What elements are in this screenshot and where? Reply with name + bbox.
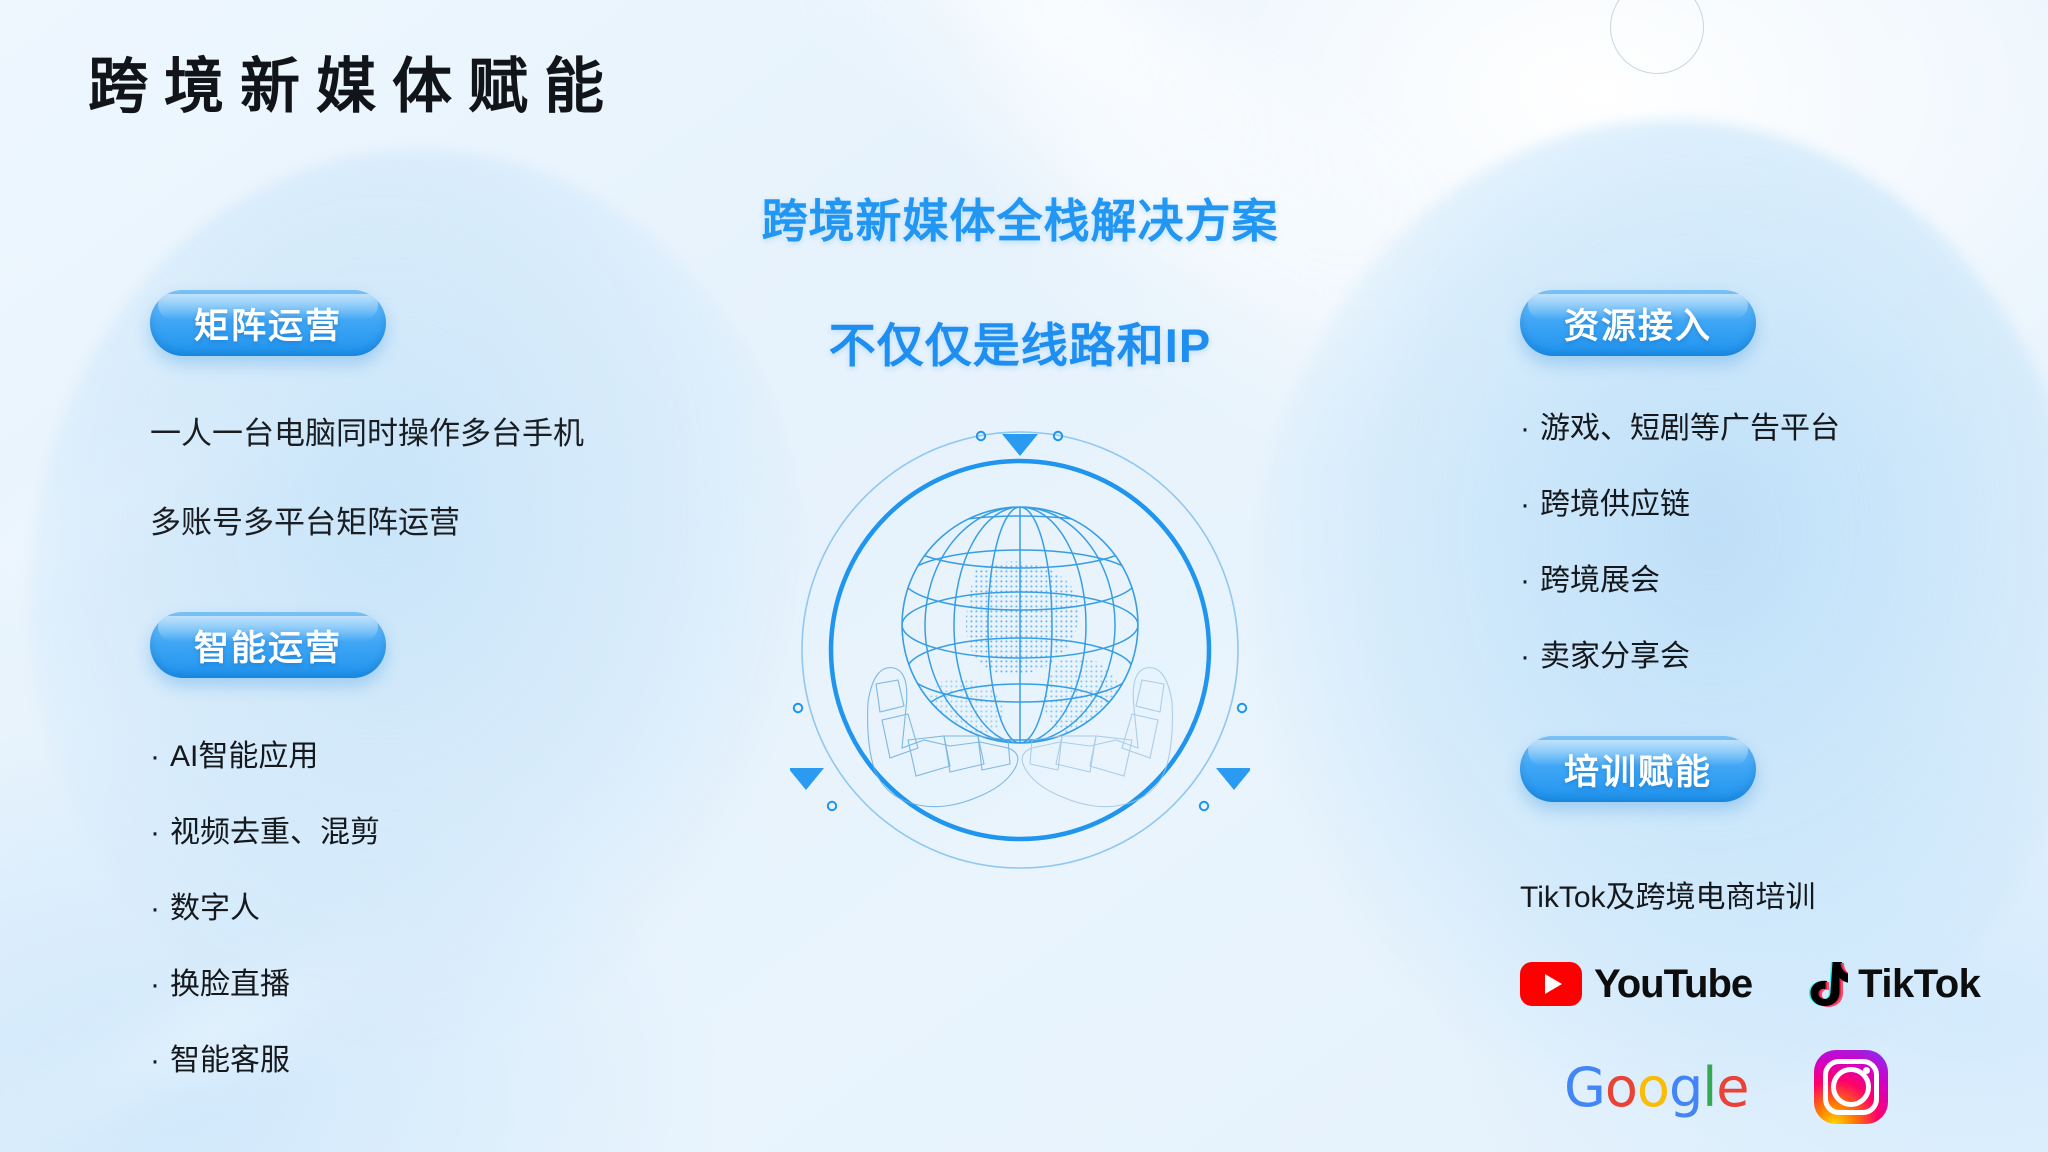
center-headline-block: 跨境新媒体全栈解决方案 不仅仅是线路和IP <box>640 185 1400 376</box>
bullet-dot: · <box>150 818 170 848</box>
page-title: 跨境新媒体赋能 <box>88 38 620 125</box>
list-item-label: 数字人 <box>170 892 260 925</box>
bullet-dot: · <box>1520 414 1540 444</box>
list-item-label: 智能客服 <box>170 1044 290 1077</box>
left-section2-list: ·AI智能应用 ·视频去重、混剪 ·数字人 ·换脸直播 ·智能客服 <box>150 742 710 1076</box>
tiktok-note-icon <box>1804 960 1848 1008</box>
list-item: ·跨境供应链 <box>1520 490 2040 520</box>
list-item-label: 跨境供应链 <box>1540 488 1690 521</box>
bullet-dot: · <box>150 894 170 924</box>
pill-resource-access[interactable]: 资源接入 <box>1520 290 1756 356</box>
pill-label: 培训赋能 <box>1564 744 1712 795</box>
pill-label: 资源接入 <box>1564 298 1712 349</box>
bullet-dot: · <box>1520 566 1540 596</box>
list-item-label: AI智能应用 <box>170 740 318 773</box>
list-item: ·换脸直播 <box>150 970 710 1000</box>
bullet-dot: · <box>150 1046 170 1076</box>
pill-matrix-operations[interactable]: 矩阵运营 <box>150 290 386 356</box>
list-item-label: 跨境展会 <box>1540 564 1660 597</box>
tiktok-logo[interactable]: TikTok <box>1804 960 1980 1008</box>
list-item: ·AI智能应用 <box>150 742 710 772</box>
headline-primary: 跨境新媒体全栈解决方案 <box>640 185 1400 251</box>
list-item: ·数字人 <box>150 894 710 924</box>
left-section1-line-1: 多账号多平台矩阵运营 <box>150 507 710 538</box>
list-item-label: 换脸直播 <box>170 968 290 1001</box>
list-item: ·跨境展会 <box>1520 566 2040 596</box>
logo-row-top: YouTube TikTok <box>1520 960 2040 1008</box>
left-section1-line-0: 一人一台电脑同时操作多台手机 <box>150 418 710 449</box>
list-item: ·卖家分享会 <box>1520 642 2040 672</box>
instagram-logo[interactable] <box>1814 1050 1888 1124</box>
globe-graphic <box>790 420 1250 880</box>
slide-canvas: 跨境新媒体赋能 跨境新媒体全栈解决方案 不仅仅是线路和IP <box>0 0 2048 1152</box>
pill-label: 智能运营 <box>194 620 342 671</box>
pill-label: 矩阵运营 <box>194 298 342 349</box>
right-column: 资源接入 ·游戏、短剧等广告平台 ·跨境供应链 ·跨境展会 ·卖家分享会 培训赋… <box>1520 290 2040 1124</box>
globe-illustration-svg <box>790 420 1250 880</box>
left-column: 矩阵运营 一人一台电脑同时操作多台手机 多账号多平台矩阵运营 智能运营 ·AI智… <box>150 290 710 1122</box>
training-description: TikTok及跨境电商培训 <box>1520 872 2040 916</box>
list-item-label: 卖家分享会 <box>1540 640 1690 673</box>
tiktok-wordmark: TikTok <box>1858 962 1980 1007</box>
right-section1-list: ·游戏、短剧等广告平台 ·跨境供应链 ·跨境展会 ·卖家分享会 <box>1520 414 2040 672</box>
logo-row-bottom: Google <box>1520 1050 2040 1124</box>
bullet-dot: · <box>150 742 170 772</box>
list-item: ·视频去重、混剪 <box>150 818 710 848</box>
list-item: ·游戏、短剧等广告平台 <box>1520 414 2040 444</box>
youtube-wordmark: YouTube <box>1594 962 1752 1007</box>
bullet-dot: · <box>1520 490 1540 520</box>
pill-training-empowerment[interactable]: 培训赋能 <box>1520 736 1756 802</box>
bullet-dot: · <box>1520 642 1540 672</box>
list-item: ·智能客服 <box>150 1046 710 1076</box>
headline-secondary: 不仅仅是线路和IP <box>640 307 1400 376</box>
circle-outline-decor <box>1610 0 1704 74</box>
list-item-label: 视频去重、混剪 <box>170 816 380 849</box>
list-item-label: 游戏、短剧等广告平台 <box>1540 412 1840 445</box>
youtube-logo[interactable]: YouTube <box>1520 962 1752 1007</box>
youtube-play-icon <box>1520 962 1582 1006</box>
pill-smart-operations[interactable]: 智能运营 <box>150 612 386 678</box>
google-logo[interactable]: Google <box>1564 1056 1748 1119</box>
bullet-dot: · <box>150 970 170 1000</box>
